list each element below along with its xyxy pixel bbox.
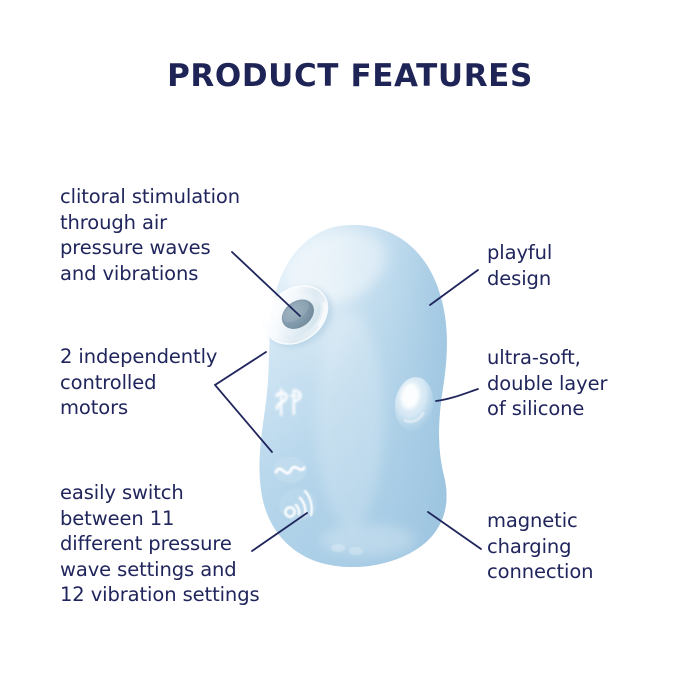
product-features-infographic: PRODUCT FEATURES (0, 0, 700, 700)
callout-magnetic-charging: magnetic charging connection (487, 508, 687, 585)
callout-silicone: ultra-soft, double layer of silicone (487, 345, 677, 422)
body-highlight-center (316, 312, 384, 528)
callout-settings: easily switch between 11 different press… (60, 480, 295, 608)
callout-motors: 2 independently controlled motors (60, 344, 285, 421)
callout-playful-design: playful design (487, 240, 677, 291)
callout-clitoral-stimulation: clitoral stimulation through air pressur… (60, 184, 290, 286)
